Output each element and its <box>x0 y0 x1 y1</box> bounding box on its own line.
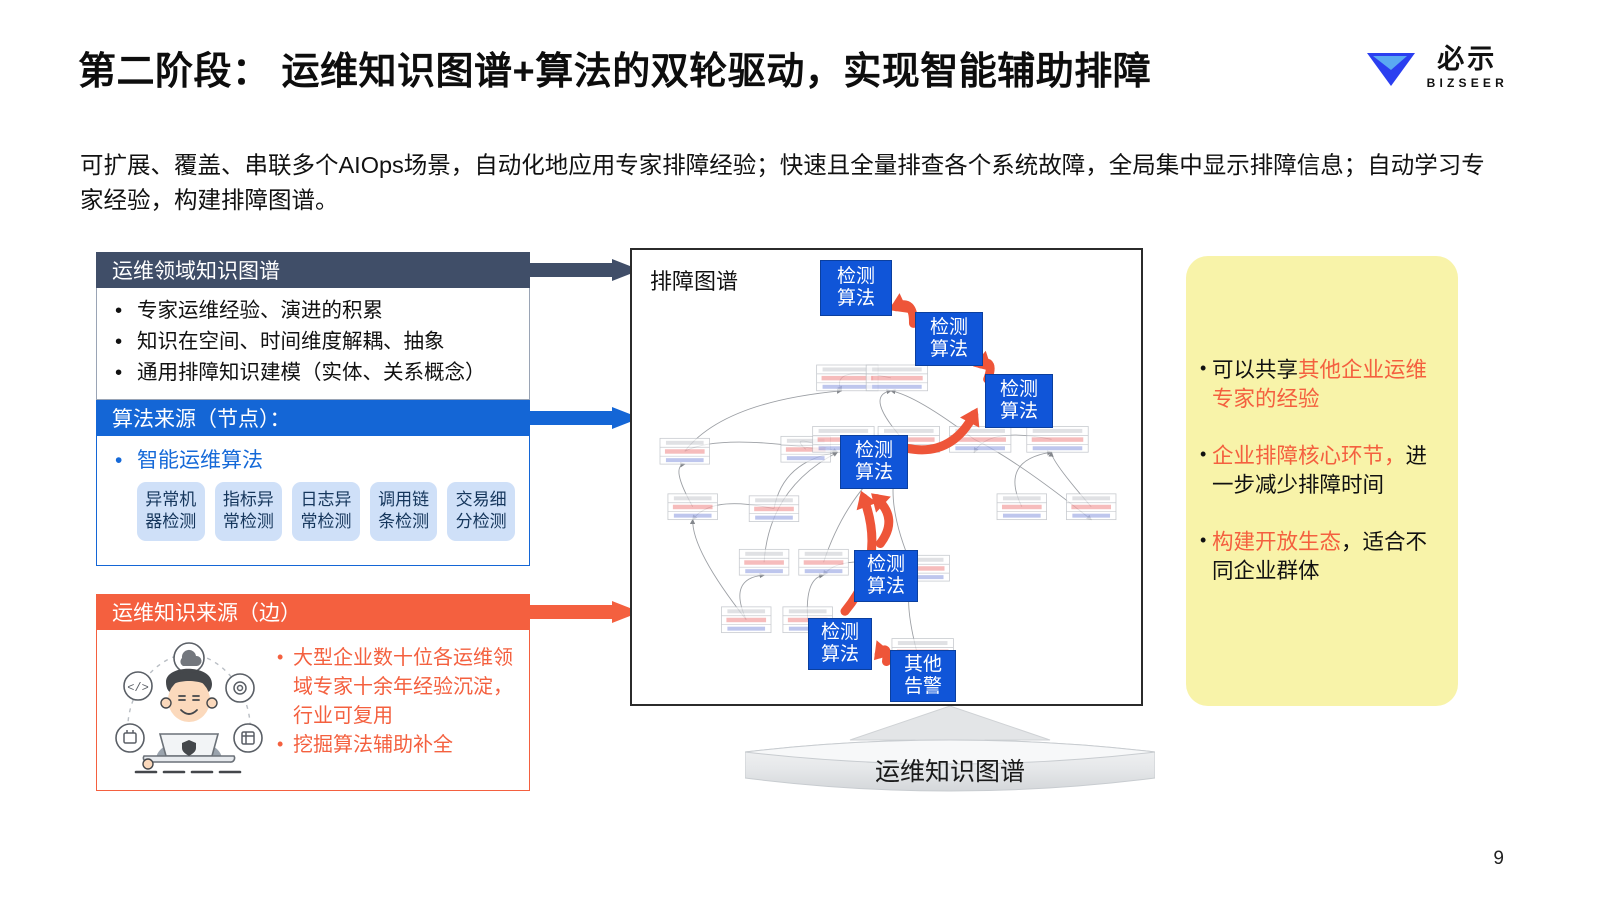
panel-knowledge-edge-title: 运维知识来源（边） <box>112 597 301 627</box>
bullet-marker: • <box>111 358 137 387</box>
panel-knowledge-edge: 运维知识来源（边） <box>96 594 530 791</box>
list-item: • 通用排障知识建模（实体、关系概念） <box>111 358 515 387</box>
bullet-marker: • <box>273 644 293 670</box>
algorithm-chip[interactable]: 日志异常检测 <box>292 482 360 541</box>
list-item: • 挖掘算法辅助补全 <box>273 731 519 760</box>
panel-algorithm-source-body: • 智能运维算法 异常机器检测 指标异常检测 日志异常检测 调用链条检测 交易细… <box>96 436 530 566</box>
bullet-marker: • <box>111 296 137 325</box>
knowledge-edge-bullets: • 大型企业数十位各运维领域专家十余年经验沉淀，行业可复用 • 挖掘算法辅助补全 <box>273 638 519 780</box>
panel-algorithm-source-header: 算法来源（节点）： <box>96 400 530 436</box>
brand-logo: 必示 BIZSEER <box>1365 44 1508 90</box>
other-alert-node[interactable]: 其他告警 <box>890 650 956 702</box>
benefit-text-accent: 企业排障核心环节， <box>1212 444 1406 468</box>
bullet-marker: • <box>111 446 137 476</box>
list-item: • 企业排障核心环节，进一步减少排障时间 <box>1200 442 1440 500</box>
algorithm-chip[interactable]: 调用链条检测 <box>370 482 438 541</box>
list-item-label: 专家运维经验、演进的积累 <box>137 296 383 325</box>
panel-knowledge-graph: 运维领域知识图谱 • 专家运维经验、演进的积累 • 知识在空间、时间维度解耦、抽… <box>96 252 530 400</box>
graph-panel-label: 排障图谱 <box>650 264 738 296</box>
list-item: • 智能运维算法 <box>111 446 515 476</box>
logo-english-name: BIZSEER <box>1427 77 1508 89</box>
list-item: • 专家运维经验、演进的积累 <box>111 296 515 325</box>
bullet-marker: • <box>1200 442 1212 466</box>
troubleshooting-graph-panel: 排障图谱 <box>630 248 1143 706</box>
list-item: • 构建开放生态，适合不同企业群体 <box>1200 528 1440 586</box>
algorithm-chip-row: 异常机器检测 指标异常检测 日志异常检测 调用链条检测 交易细分检测 <box>111 482 515 541</box>
panel-knowledge-graph-body: • 专家运维经验、演进的积累 • 知识在空间、时间维度解耦、抽象 • 通用排障知… <box>96 288 530 400</box>
list-item: • 知识在空间、时间维度解耦、抽象 <box>111 327 515 356</box>
list-item-label: 企业排障核心环节，进一步减少排障时间 <box>1212 442 1440 500</box>
page-number: 9 <box>1493 848 1504 870</box>
algorithm-chip[interactable]: 指标异常检测 <box>215 482 283 541</box>
panel-algorithm-source-title: 算法来源（节点）： <box>112 403 291 433</box>
chevron-logo-icon <box>1365 44 1417 90</box>
bullet-marker: • <box>1200 356 1212 380</box>
detection-algorithm-node[interactable]: 检测算法 <box>840 435 908 489</box>
detection-algorithm-node[interactable]: 检测算法 <box>808 618 872 670</box>
panel-knowledge-graph-title: 运维领域知识图谱 <box>112 255 280 285</box>
arrow-right-icon <box>530 259 640 281</box>
bullet-marker: • <box>1200 528 1212 552</box>
panel-knowledge-edge-header: 运维知识来源（边） <box>96 594 530 630</box>
benefit-text-plain: 可以共享 <box>1212 358 1298 382</box>
list-item-label: 智能运维算法 <box>137 446 263 476</box>
detection-algorithm-node[interactable]: 检测算法 <box>820 260 892 316</box>
list-item: • 可以共享其他企业运维专家的经验 <box>1200 356 1440 414</box>
logo-chinese-name: 必示 <box>1437 46 1497 73</box>
person-at-laptop-illustration: </> <box>105 638 273 780</box>
slide-root: 第二阶段： 运维知识图谱+算法的双轮驱动，实现智能辅助排障 必示 BIZSEER… <box>0 0 1600 900</box>
panel-benefits: • 可以共享其他企业运维专家的经验 • 企业排障核心环节，进一步减少排障时间 •… <box>1186 256 1458 706</box>
detection-algorithm-node[interactable]: 检测算法 <box>915 312 983 366</box>
list-item: • 大型企业数十位各运维领域专家十余年经验沉淀，行业可复用 <box>273 644 519 731</box>
platform-label: 运维知识图谱 <box>745 752 1155 788</box>
list-item-label: 可以共享其他企业运维专家的经验 <box>1212 356 1440 414</box>
arrow-right-icon <box>530 407 640 429</box>
page-title: 第二阶段： 运维知识图谱+算法的双轮驱动，实现智能辅助排障 <box>78 40 1151 95</box>
detection-algorithm-node[interactable]: 检测算法 <box>854 550 918 602</box>
panel-knowledge-graph-header: 运维领域知识图谱 <box>96 252 530 288</box>
list-item-label: 知识在空间、时间维度解耦、抽象 <box>137 327 445 356</box>
slide-subtitle: 可扩展、覆盖、串联多个AIOps场景，自动化地应用专家排障经验；快速且全量排查各… <box>80 148 1500 219</box>
algorithm-chip[interactable]: 交易细分检测 <box>447 482 515 541</box>
list-item-label: 挖掘算法辅助补全 <box>293 731 453 760</box>
panel-knowledge-edge-body: </> <box>96 630 530 791</box>
algorithm-chip[interactable]: 异常机器检测 <box>137 482 205 541</box>
arrow-right-icon <box>530 601 640 623</box>
svg-text:</>: </> <box>127 681 149 695</box>
benefit-text-accent: 构建开放生态 <box>1212 530 1341 554</box>
bullet-marker: • <box>111 327 137 356</box>
list-item-label: 构建开放生态，适合不同企业群体 <box>1212 528 1440 586</box>
detection-algorithm-node[interactable]: 检测算法 <box>985 374 1053 428</box>
list-item-label: 通用排障知识建模（实体、关系概念） <box>137 358 486 387</box>
panel-algorithm-source: 算法来源（节点）： • 智能运维算法 异常机器检测 指标异常检测 日志异常检测 … <box>96 400 530 566</box>
bullet-marker: • <box>273 731 293 757</box>
list-item-label: 大型企业数十位各运维领域专家十余年经验沉淀，行业可复用 <box>293 644 519 731</box>
